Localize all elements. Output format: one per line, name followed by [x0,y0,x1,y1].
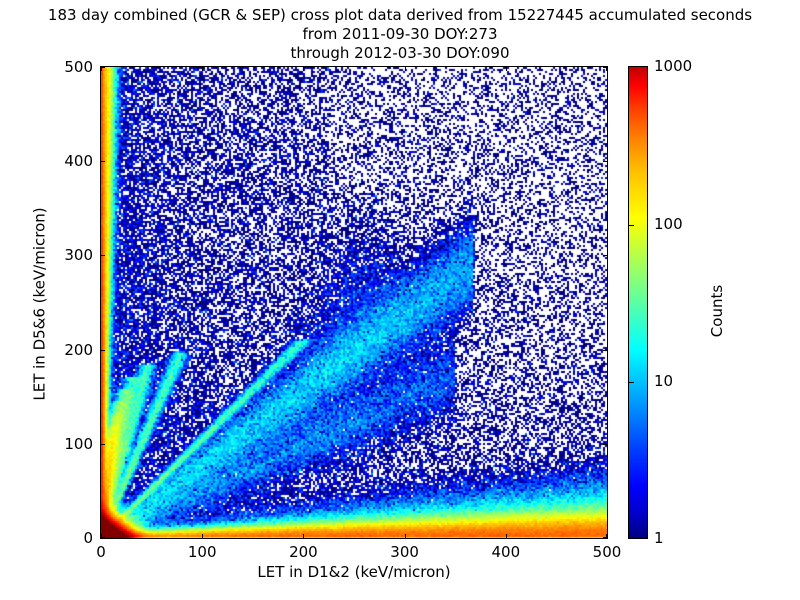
x-tick-label: 100 [188,543,217,561]
plot-axes [100,66,608,539]
y-tick-mark [101,161,105,162]
x-tick-mark [405,67,406,71]
y-tick-label: 0 [83,529,93,547]
colorbar-gradient [628,66,648,539]
colorbar-label: Counts [708,211,726,411]
colorbar-tick-label: 1000 [654,57,692,75]
chart-title: 183 day combined (GCR & SEP) cross plot … [0,6,800,63]
x-tick-label: 500 [593,543,622,561]
y-tick-mark [603,537,607,538]
x-tick-label: 200 [289,543,318,561]
x-tick-mark [303,67,304,71]
y-tick-label: 200 [64,341,93,359]
y-tick-mark [603,161,607,162]
y-tick-label: 100 [64,435,93,453]
y-tick-mark [101,67,105,68]
scatter-heatmap-canvas [101,67,607,538]
y-tick-mark [101,444,105,445]
x-tick-mark [202,534,203,538]
x-axis-label: LET in D1&2 (keV/micron) [100,563,608,581]
x-tick-label: 0 [96,543,106,561]
x-tick-mark [405,534,406,538]
y-tick-mark [603,444,607,445]
x-tick-mark [506,67,507,71]
x-tick-label: 400 [491,543,520,561]
x-tick-mark [202,67,203,71]
y-tick-label: 500 [64,58,93,76]
colorbar-tick-label: 100 [654,215,683,233]
y-tick-mark [603,350,607,351]
x-tick-mark [506,534,507,538]
y-tick-mark [603,255,607,256]
y-tick-mark [101,255,105,256]
colorbar-tick-label: 1 [654,529,664,547]
x-tick-label: 300 [390,543,419,561]
colorbar-tick-mark [629,382,634,383]
figure-canvas: 183 day combined (GCR & SEP) cross plot … [0,0,800,600]
x-tick-mark [303,534,304,538]
y-tick-mark [603,67,607,68]
y-axis-label: LET in D5&6 (keV/micron) [31,68,49,541]
title-line-1: 183 day combined (GCR & SEP) cross plot … [0,6,800,25]
colorbar-tick-label: 10 [654,372,673,390]
y-tick-mark [101,537,105,538]
title-line-2: from 2011-09-30 DOY:273 [0,25,800,44]
y-tick-mark [101,350,105,351]
y-tick-label: 400 [64,152,93,170]
colorbar-tick-mark [629,225,634,226]
y-tick-label: 300 [64,246,93,264]
